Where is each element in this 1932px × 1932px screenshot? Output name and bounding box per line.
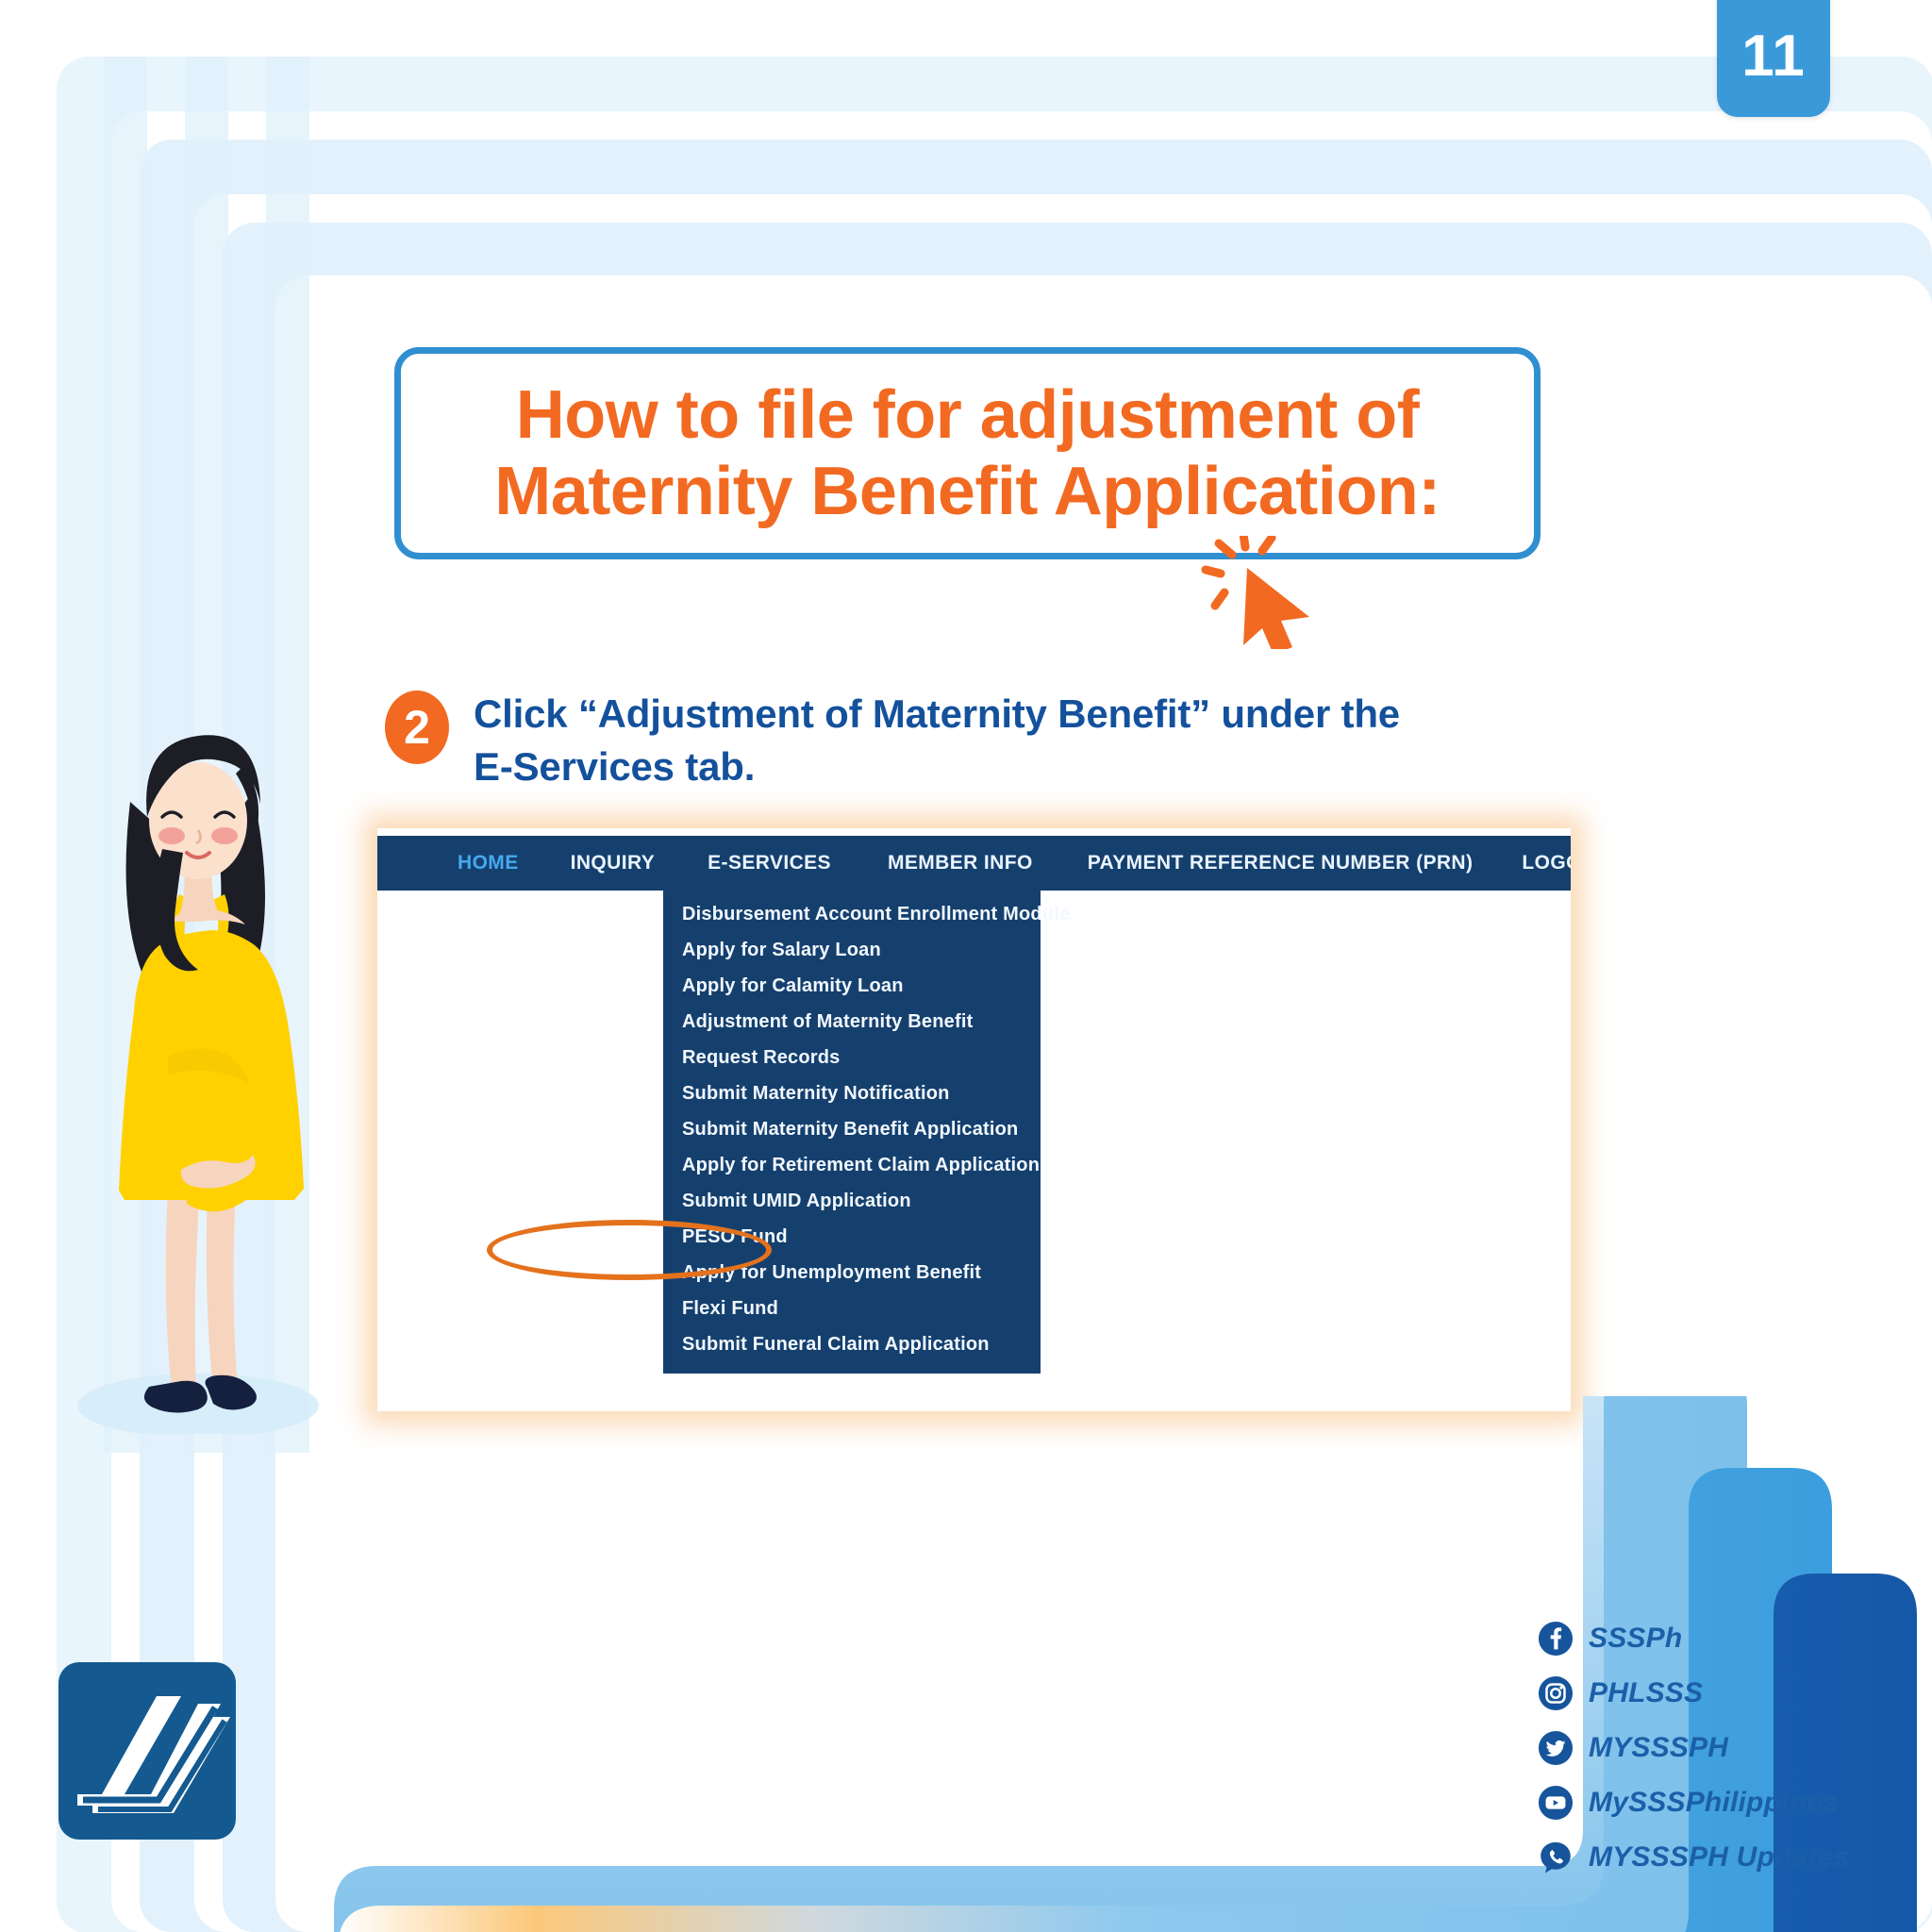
facebook-icon: [1538, 1621, 1574, 1657]
menu-item-apply-for-salary-loan[interactable]: Apply for Salary Loan: [663, 932, 1041, 968]
social-links-list: SSSPh PHLSSS MYSSSPH MySSS: [1538, 1621, 1915, 1875]
menu-item-submit-maternity-benefit-application[interactable]: Submit Maternity Benefit Application: [663, 1111, 1041, 1147]
embedded-screenshot: HOME INQUIRY E-SERVICES MEMBER INFO PAYM…: [377, 828, 1571, 1411]
menu-item-apply-for-calamity-loan[interactable]: Apply for Calamity Loan: [663, 968, 1041, 1004]
social-label-viber: MYSSSPH Updates: [1589, 1841, 1849, 1874]
step-instruction-line-1: Click “Adjustment of Maternity Benefit” …: [474, 687, 1400, 740]
social-label-facebook: SSSPh: [1589, 1623, 1682, 1655]
social-link-instagram[interactable]: PHLSSS: [1538, 1675, 1703, 1711]
instagram-icon: [1538, 1675, 1574, 1711]
site-navbar: HOME INQUIRY E-SERVICES MEMBER INFO PAYM…: [377, 836, 1571, 891]
nav-item-member-info[interactable]: MEMBER INFO: [888, 852, 1033, 874]
menu-item-request-records[interactable]: Request Records: [663, 1040, 1041, 1075]
menu-item-submit-funeral-claim-application[interactable]: Submit Funeral Claim Application: [663, 1326, 1041, 1362]
menu-item-submit-umid-application[interactable]: Submit UMID Application: [663, 1183, 1041, 1219]
social-label-twitter: MYSSSPH: [1589, 1732, 1728, 1764]
youtube-icon: [1538, 1785, 1574, 1821]
step-row: 2 Click “Adjustment of Maternity Benefit…: [385, 687, 1498, 792]
title-box: How to file for adjustment of Maternity …: [394, 347, 1541, 559]
menu-item-apply-for-unemployment-benefit[interactable]: Apply for Unemployment Benefit: [663, 1255, 1041, 1291]
page-title-line-2: Maternity Benefit Application:: [494, 454, 1440, 530]
sss-logo: [58, 1662, 236, 1840]
pregnant-woman-illustration: [57, 660, 330, 1434]
social-label-instagram: PHLSSS: [1589, 1677, 1703, 1709]
menu-item-adjustment-of-maternity-benefit[interactable]: Adjustment of Maternity Benefit: [663, 1004, 1041, 1040]
viber-icon: [1538, 1840, 1574, 1875]
eservices-dropdown-menu: Disbursement Account Enrollment Module A…: [663, 891, 1041, 1374]
menu-item-flexi-fund[interactable]: Flexi Fund: [663, 1291, 1041, 1326]
social-link-facebook[interactable]: SSSPh: [1538, 1621, 1682, 1657]
twitter-icon: [1538, 1730, 1574, 1766]
nav-item-home[interactable]: HOME: [458, 852, 519, 874]
social-link-twitter[interactable]: MYSSSPH: [1538, 1730, 1728, 1766]
social-link-youtube[interactable]: MySSSPhilippines: [1538, 1785, 1839, 1821]
nav-item-logout[interactable]: LOGOUT: [1522, 852, 1571, 874]
social-link-viber[interactable]: MYSSSPH Updates: [1538, 1840, 1849, 1875]
nav-item-inquiry[interactable]: INQUIRY: [571, 852, 656, 874]
page-title-line-1: How to file for adjustment of: [516, 377, 1419, 454]
step-instruction-line-2: E-Services tab.: [474, 740, 1400, 792]
step-number-badge: 2: [385, 691, 449, 764]
click-cursor-icon: [1187, 536, 1319, 649]
menu-item-submit-maternity-notification[interactable]: Submit Maternity Notification: [663, 1075, 1041, 1111]
menu-item-apply-for-retirement-claim-application[interactable]: Apply for Retirement Claim Application: [663, 1147, 1041, 1183]
poster-canvas: 11 How to file for adjustment of Materni…: [0, 0, 1932, 1932]
nav-item-eservices[interactable]: E-SERVICES: [708, 852, 831, 874]
menu-item-peso-fund[interactable]: PESO Fund: [663, 1219, 1041, 1255]
menu-item-disbursement-account-enrollment-module[interactable]: Disbursement Account Enrollment Module: [663, 896, 1041, 932]
social-label-youtube: MySSSPhilippines: [1589, 1787, 1839, 1819]
page-number-badge: 11: [1717, 0, 1830, 117]
step-instruction: Click “Adjustment of Maternity Benefit” …: [474, 687, 1400, 792]
nav-item-prn[interactable]: PAYMENT REFERENCE NUMBER (PRN): [1088, 852, 1474, 874]
